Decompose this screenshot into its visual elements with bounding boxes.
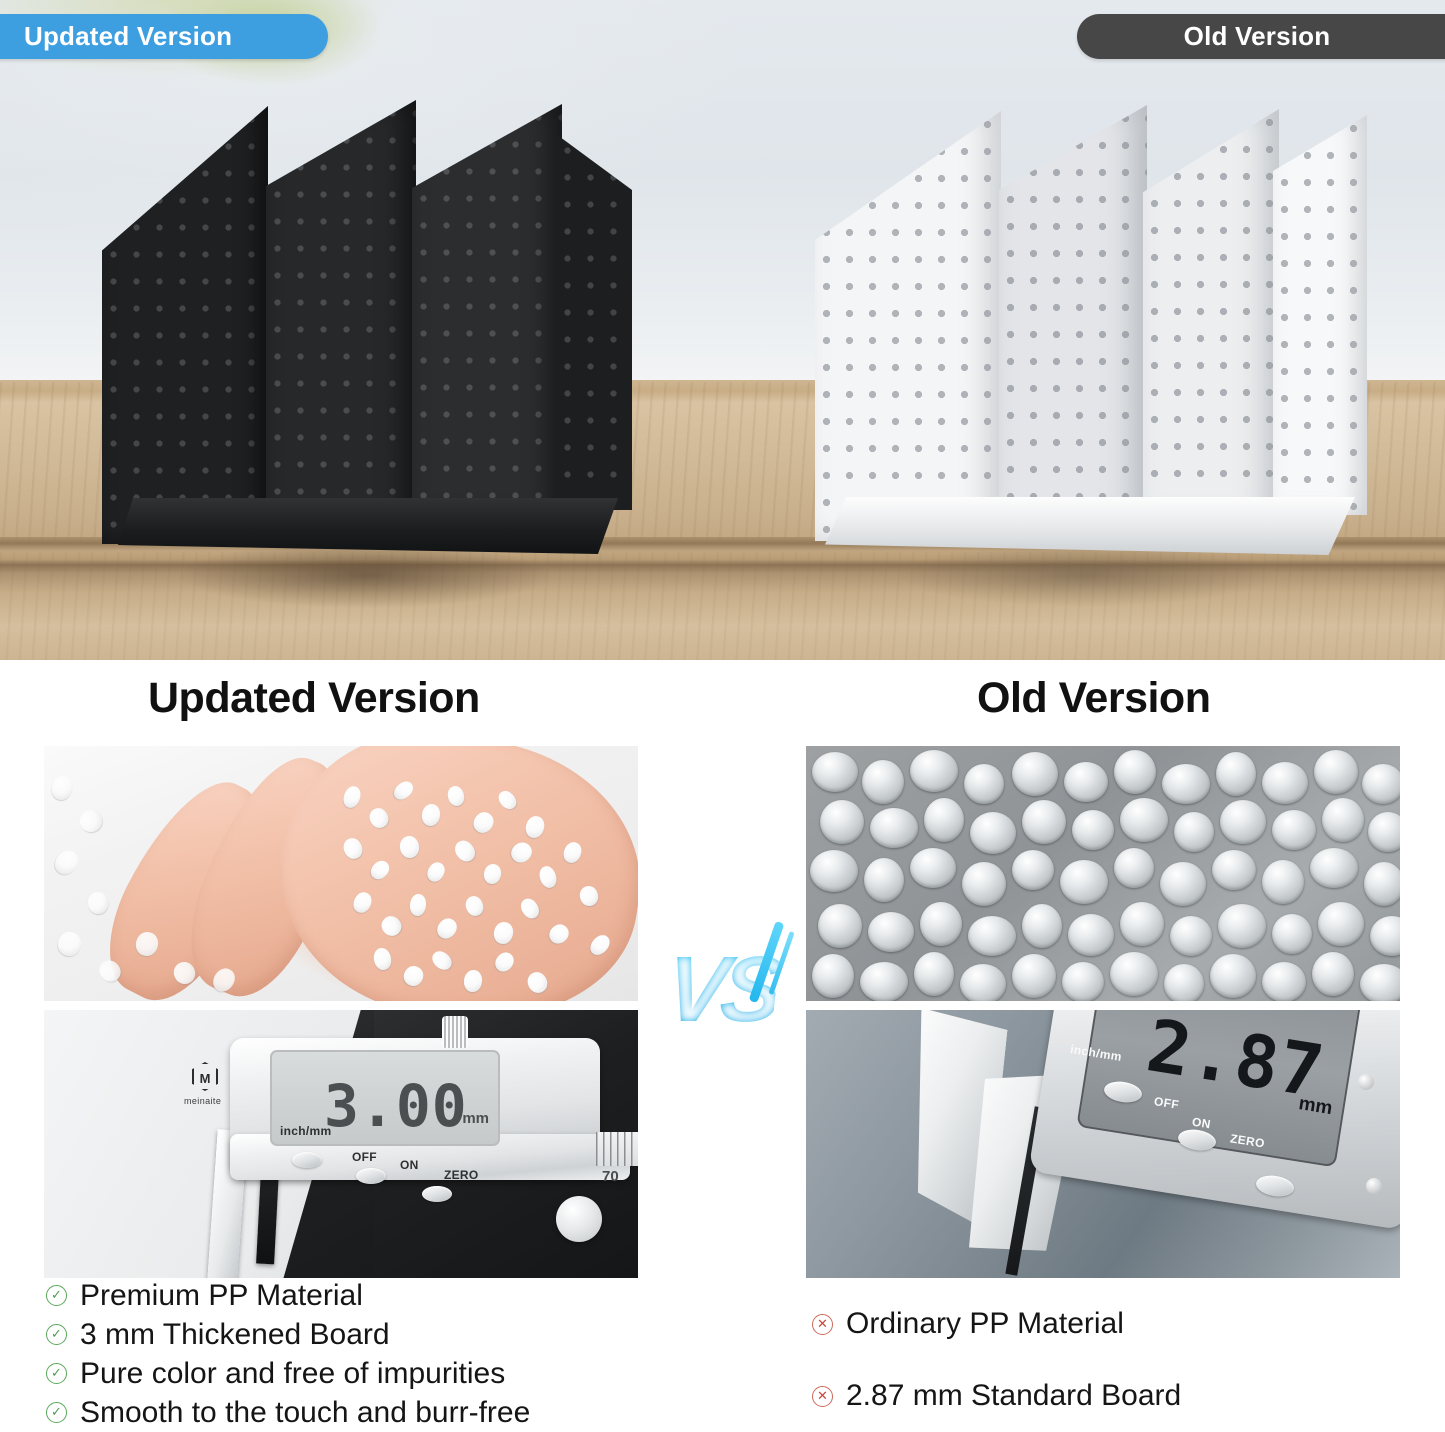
feature-list-updated: ✓ Premium PP Material ✓ 3 mm Thickened B… [46, 1276, 666, 1432]
black-file-organizer [90, 100, 630, 610]
feature-text: Premium PP Material [80, 1279, 363, 1313]
hero-product-photo: Updated Version Old Version [0, 0, 1445, 660]
caliper-reading-value: 3.00 [324, 1072, 468, 1140]
photo-ordinary-pp-pellets [806, 746, 1400, 1001]
check-icon: ✓ [46, 1363, 67, 1384]
caliper-inchmm-label: inch/mm [280, 1124, 331, 1138]
list-item: ✓ Smooth to the touch and burr-free [46, 1393, 666, 1432]
white-organizer-divider-3 [1273, 115, 1367, 515]
black-organizer-side-panel [102, 106, 268, 544]
white-file-organizer [805, 105, 1365, 610]
photo-caliper-old: 2.87 mm inch/mm OFF ON ZERO [806, 1010, 1400, 1278]
vs-logo: VS [660, 936, 781, 1043]
list-item: ✓ 3 mm Thickened Board [46, 1315, 666, 1354]
list-item: ✕ 2.87 mm Standard Board [812, 1360, 1372, 1432]
check-icon: ✓ [46, 1324, 67, 1345]
caliper-old-unit-label: mm [1297, 1093, 1334, 1120]
cross-icon: ✕ [812, 1314, 833, 1335]
check-icon: ✓ [46, 1402, 67, 1423]
photo-premium-pp-pellets [44, 746, 638, 1001]
caliper-zero-label: ZERO [444, 1168, 479, 1182]
feature-text: Ordinary PP Material [846, 1307, 1124, 1341]
caliper-unit-label: mm [462, 1110, 489, 1127]
list-item: ✓ Premium PP Material [46, 1276, 666, 1315]
caliper-on-label: ON [400, 1158, 419, 1172]
caliper-measuring-scale [596, 1132, 638, 1166]
white-organizer-divider-1 [999, 105, 1147, 531]
black-organizer-right-panel [556, 110, 632, 510]
feature-text: Smooth to the touch and burr-free [80, 1396, 530, 1430]
caliper-old-screw-bottom [1366, 1178, 1382, 1194]
white-organizer-side-panel [815, 111, 1001, 541]
feature-list-old: ✕ Ordinary PP Material ✕ 2.87 mm Standar… [812, 1288, 1372, 1432]
black-organizer-base [118, 498, 618, 554]
black-organizer-divider-1 [266, 100, 416, 530]
caliper-scale-number: 70 [602, 1168, 619, 1185]
white-organizer-divider-2 [1143, 109, 1279, 525]
caliper-off-label: OFF [352, 1150, 377, 1164]
caliper-thumb-screw [442, 1016, 468, 1048]
column-title-old: Old Version [977, 674, 1210, 723]
photo-caliper-updated: 3.00 mm inch/mm OFF ON ZERO M meinaite 7… [44, 1010, 638, 1278]
badge-updated-version: Updated Version [0, 14, 328, 59]
feature-text: Pure color and free of impurities [80, 1357, 505, 1391]
caliper-brand-logo: M [192, 1062, 218, 1091]
black-organizer-divider-2 [412, 104, 562, 524]
feature-text: 2.87 mm Standard Board [846, 1379, 1181, 1413]
caliper-lcd-display: 3.00 mm inch/mm [270, 1050, 500, 1146]
feature-text: 3 mm Thickened Board [80, 1318, 390, 1352]
caliper-button-zero[interactable] [422, 1186, 452, 1202]
caliper-brand-name: meinaite [184, 1096, 221, 1106]
caliper-old-screw-top [1358, 1074, 1374, 1090]
cross-icon: ✕ [812, 1386, 833, 1407]
caliper-lock-knob [556, 1196, 602, 1242]
badge-old-version: Old Version [1077, 14, 1445, 59]
check-icon: ✓ [46, 1285, 67, 1306]
list-item: ✕ Ordinary PP Material [812, 1288, 1372, 1360]
list-item: ✓ Pure color and free of impurities [46, 1354, 666, 1393]
caliper-button-inchmm[interactable] [292, 1152, 322, 1168]
caliper-button-onoff[interactable] [356, 1168, 386, 1184]
column-title-updated: Updated Version [148, 674, 480, 723]
